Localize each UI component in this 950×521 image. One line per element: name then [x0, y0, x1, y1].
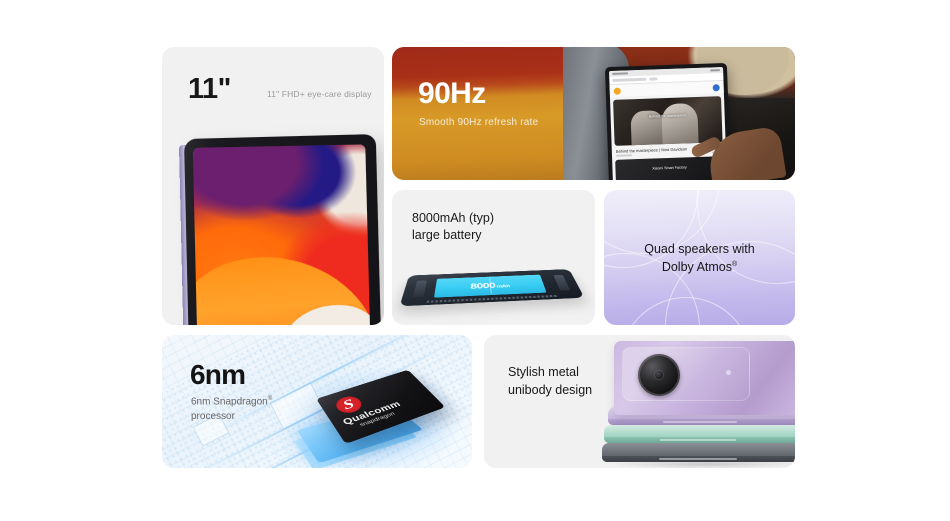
- battery-panel[interactable]: 8000mAh (typ) large battery 8000mAh: [392, 190, 595, 325]
- battery-headline-line1: 8000mAh (typ): [412, 211, 494, 225]
- design-headline-line2: unibody design: [508, 383, 592, 397]
- feature-grid: 11" 11" FHD+ eye-care display 90Hz Smoot…: [0, 0, 950, 521]
- held-tablet-screen: Behind the masterpiece Behind the master…: [609, 67, 727, 180]
- processor-headline: 6nm: [190, 359, 245, 391]
- sound-wave-decor: [604, 190, 795, 325]
- avatar[interactable]: [713, 84, 720, 91]
- camera-lens-icon: [638, 354, 680, 396]
- battery-capacity-unit: mAh: [496, 284, 510, 289]
- tablet-screen: [193, 144, 371, 325]
- snapdragon-label: 6nm Snapdragon: [191, 396, 268, 407]
- video-thumbnail: Behind the masterpiece: [613, 96, 723, 146]
- refresh-caption: Smooth 90Hz refresh rate: [419, 117, 538, 128]
- secondary-caption: Xiaomi Smart Factory: [652, 166, 687, 171]
- processor-caption-line2: processor: [191, 411, 235, 422]
- registered-mark: ®: [268, 396, 272, 402]
- processor-caption-line1: 6nm Snapdragon®: [191, 396, 272, 407]
- camera-flash-icon: [726, 370, 731, 375]
- tablet-colorway-mint: [604, 425, 795, 443]
- battery-rail-right: [553, 275, 570, 291]
- battery-rail-left: [413, 280, 427, 297]
- camera-plate: [622, 347, 750, 401]
- dolby-label: Dolby Atmos: [662, 260, 732, 274]
- speakers-headline-line2: Dolby Atmos®: [604, 260, 795, 274]
- processor-panel[interactable]: 6nm 6nm Snapdragon® processor Qualcomm s…: [162, 335, 472, 468]
- tablet-front-image: [184, 139, 384, 325]
- display-headline: 11": [188, 73, 231, 106]
- battery-image: 8000mAh: [406, 258, 584, 320]
- speakers-headline-line1: Quad speakers with: [604, 242, 795, 256]
- tablet-stack-image: [602, 341, 795, 465]
- video-card-secondary[interactable]: Xiaomi Smart Factory: [615, 156, 724, 180]
- speakers-panel[interactable]: Quad speakers with Dolby Atmos®: [604, 190, 795, 325]
- battery-capacity-value: 8000: [470, 281, 496, 291]
- display-panel[interactable]: 11" 11" FHD+ eye-care display: [162, 47, 384, 325]
- lifestyle-photo: Behind the masterpiece Behind the master…: [563, 47, 795, 180]
- tablet-colorway-purple: [614, 341, 795, 415]
- thumb-figure-b: [661, 103, 699, 144]
- battery-cell: 8000mAh: [434, 275, 547, 298]
- app-toolbar: [610, 81, 724, 97]
- registered-mark: ®: [732, 261, 737, 268]
- battery-capacity-label: 8000mAh: [470, 280, 510, 290]
- design-panel[interactable]: Stylish metal unibody design: [484, 335, 795, 468]
- app-logo-icon: [614, 87, 621, 94]
- tablet-body: [184, 134, 382, 325]
- battery-headline-line2: large battery: [412, 228, 481, 242]
- display-caption: 11" FHD+ eye-care display: [267, 89, 372, 99]
- design-headline-line1: Stylish metal: [508, 365, 579, 379]
- battery-chassis: 8000mAh: [399, 269, 584, 306]
- refresh-rate-panel[interactable]: 90Hz Smooth 90Hz refresh rate: [392, 47, 795, 180]
- snapdragon-chip-image: Qualcomm snapdragon: [298, 359, 472, 468]
- tablet-colorway-graphite: [602, 443, 795, 462]
- refresh-headline: 90Hz: [418, 77, 486, 111]
